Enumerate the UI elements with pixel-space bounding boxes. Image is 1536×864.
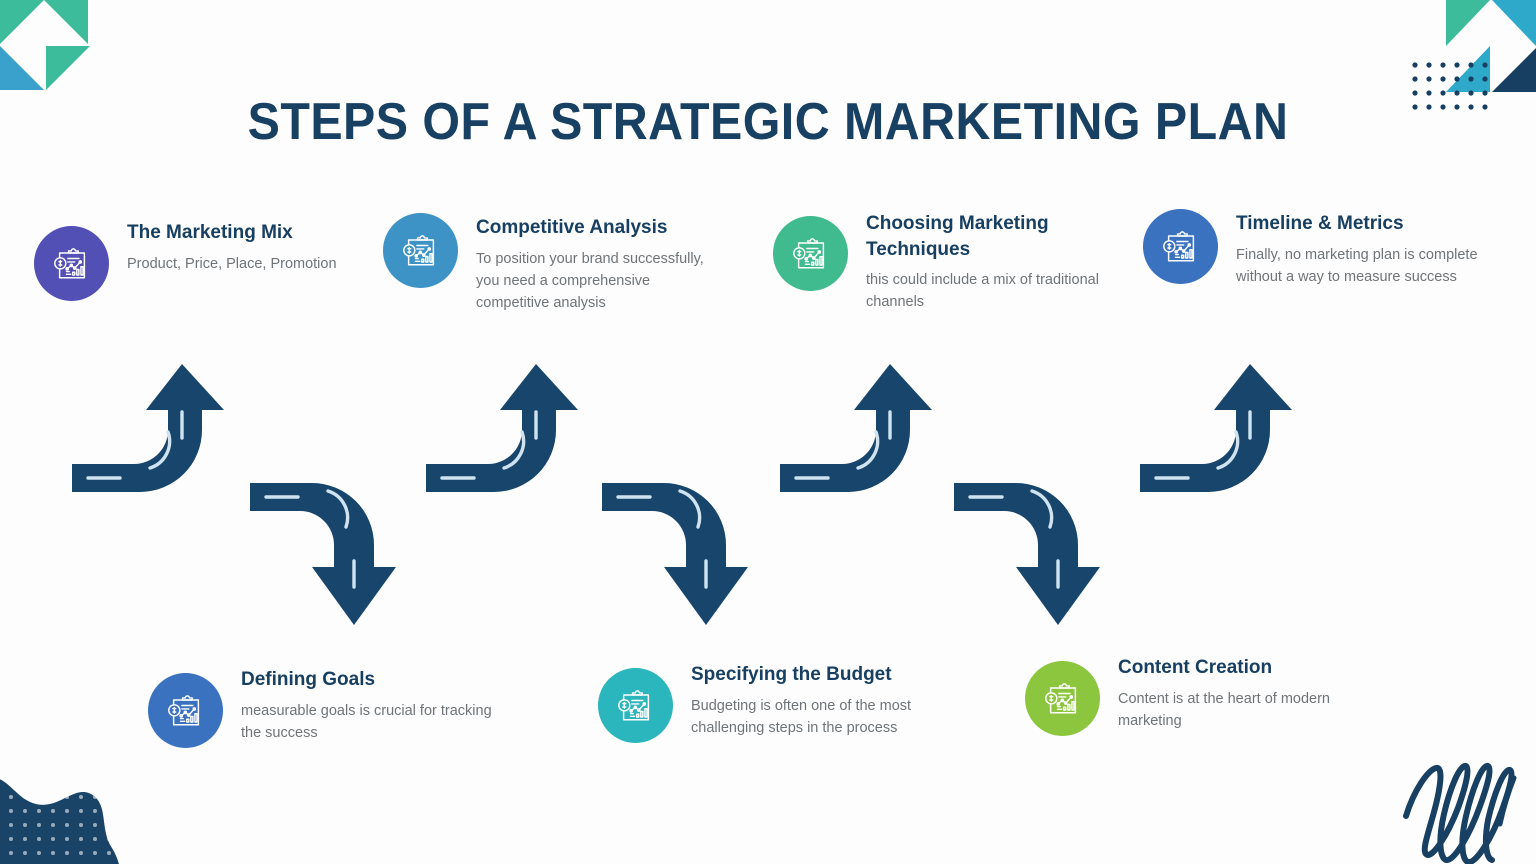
arrow-up-2 bbox=[426, 362, 578, 506]
step-icon-circle bbox=[598, 668, 673, 743]
arrow-up-1 bbox=[72, 362, 224, 506]
arrow-down-2 bbox=[602, 483, 754, 627]
page-title: STEPS OF A STRATEGIC MARKETING PLAN bbox=[54, 92, 1482, 152]
step-title: The Marketing Mix bbox=[127, 220, 337, 246]
step-item-competitive-analysis[interactable]: Competitive Analysis To position your br… bbox=[383, 213, 713, 314]
step-item-content-creation[interactable]: Content Creation Content is at the heart… bbox=[1025, 653, 1385, 736]
step-description: this could include a mix of traditional … bbox=[866, 269, 1103, 313]
chart-clipboard-icon bbox=[399, 229, 443, 273]
step-description: Product, Price, Place, Promotion bbox=[127, 253, 337, 275]
step-description: measurable goals is crucial for tracking… bbox=[241, 700, 498, 744]
step-text-block: The Marketing Mix Product, Price, Place,… bbox=[109, 218, 337, 275]
chart-clipboard-icon bbox=[614, 684, 658, 728]
chart-clipboard-icon bbox=[50, 242, 94, 286]
step-item-specifying-the-budget[interactable]: Specifying the Budget Budgeting is often… bbox=[598, 660, 958, 743]
step-description: Budgeting is often one of the most chall… bbox=[691, 695, 958, 739]
step-text-block: Competitive Analysis To position your br… bbox=[458, 213, 713, 314]
chart-clipboard-icon bbox=[1159, 225, 1203, 269]
scribble-stroke-icon bbox=[1400, 754, 1530, 864]
step-description: To position your brand successfully, you… bbox=[476, 248, 713, 315]
step-item-choosing-marketing-techniques[interactable]: Choosing Marketing Techniques this could… bbox=[773, 209, 1103, 314]
step-description: Finally, no marketing plan is complete w… bbox=[1236, 244, 1503, 288]
step-text-block: Defining Goals measurable goals is cruci… bbox=[223, 665, 498, 744]
triangle-cluster-top-left-icon bbox=[0, 0, 90, 90]
chart-clipboard-icon bbox=[789, 232, 833, 276]
step-item-marketing-mix[interactable]: The Marketing Mix Product, Price, Place,… bbox=[34, 218, 374, 301]
arrow-up-4 bbox=[1140, 362, 1292, 506]
arrow-down-3 bbox=[954, 483, 1106, 627]
step-icon-circle bbox=[34, 226, 109, 301]
chart-clipboard-icon bbox=[164, 689, 208, 733]
step-item-timeline-metrics[interactable]: Timeline & Metrics Finally, no marketing… bbox=[1143, 209, 1503, 288]
step-icon-circle bbox=[1143, 209, 1218, 284]
blob-shape-bottom-left-icon bbox=[0, 752, 170, 864]
step-title: Defining Goals bbox=[241, 667, 498, 693]
step-item-defining-goals[interactable]: Defining Goals measurable goals is cruci… bbox=[148, 665, 498, 748]
arrow-up-3 bbox=[780, 362, 932, 506]
step-description: Content is at the heart of modern market… bbox=[1118, 688, 1385, 732]
step-text-block: Content Creation Content is at the heart… bbox=[1100, 653, 1385, 732]
step-icon-circle bbox=[148, 673, 223, 748]
step-title: Specifying the Budget bbox=[691, 662, 958, 688]
step-title: Choosing Marketing Techniques bbox=[866, 211, 1103, 262]
step-icon-circle bbox=[1025, 661, 1100, 736]
arrow-down-1 bbox=[250, 483, 402, 627]
step-title: Content Creation bbox=[1118, 655, 1385, 681]
chart-clipboard-icon bbox=[1041, 677, 1085, 721]
step-text-block: Timeline & Metrics Finally, no marketing… bbox=[1218, 209, 1503, 288]
step-title: Timeline & Metrics bbox=[1236, 211, 1503, 237]
step-icon-circle bbox=[773, 216, 848, 291]
step-text-block: Choosing Marketing Techniques this could… bbox=[848, 209, 1103, 314]
step-text-block: Specifying the Budget Budgeting is often… bbox=[673, 660, 958, 739]
step-title: Competitive Analysis bbox=[476, 215, 713, 241]
infographic-canvas: STEPS OF A STRATEGIC MARKETING PLAN bbox=[0, 0, 1536, 864]
step-icon-circle bbox=[383, 213, 458, 288]
